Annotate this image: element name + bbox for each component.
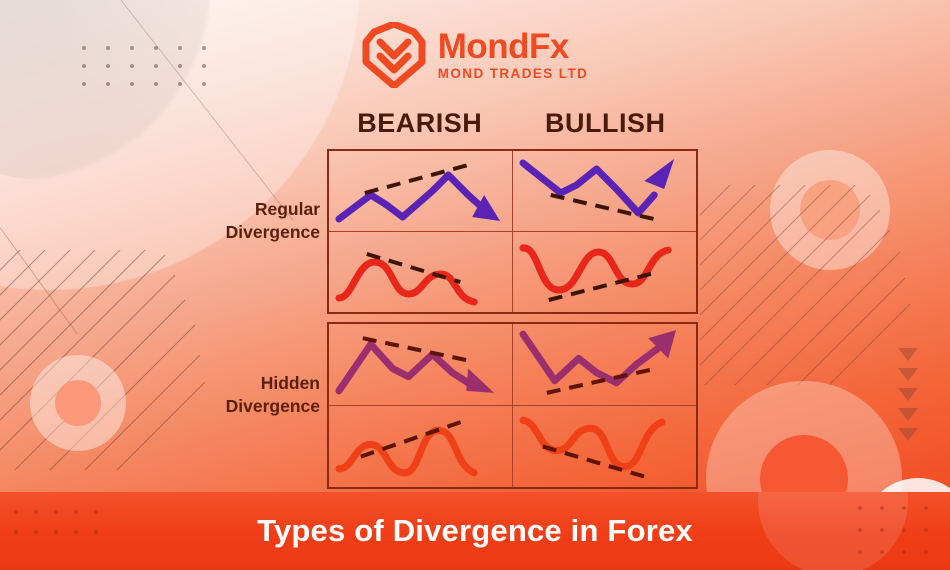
hidden-indicator-row bbox=[329, 406, 696, 487]
banner-decorative-blob bbox=[758, 492, 908, 570]
regular-indicator-row bbox=[329, 232, 696, 312]
background-ring-left-hole bbox=[55, 380, 101, 426]
footer-banner: Types of Divergence in Forex bbox=[0, 492, 950, 570]
column-header-bearish: BEARISH bbox=[327, 108, 513, 139]
triangle-column-icon bbox=[898, 348, 918, 448]
row-label-line2: Divergence bbox=[145, 221, 320, 244]
row-label-line1: Hidden bbox=[145, 372, 320, 395]
hidden-bearish-indicator-chart bbox=[329, 406, 513, 487]
row-label-hidden-divergence: Hidden Divergence bbox=[145, 372, 320, 418]
regular-divergence-block bbox=[327, 149, 698, 314]
regular-bullish-price-chart bbox=[513, 151, 696, 231]
row-label-regular-divergence: Regular Divergence bbox=[145, 198, 320, 244]
hidden-bullish-indicator-chart bbox=[513, 406, 696, 487]
page-title: Types of Divergence in Forex bbox=[257, 513, 693, 549]
regular-price-row bbox=[329, 151, 696, 232]
regular-bullish-indicator-chart bbox=[513, 232, 696, 312]
brand-logo: MondFx MOND TRADES LTD bbox=[0, 22, 950, 88]
regular-bearish-price-chart bbox=[329, 151, 513, 231]
brand-name: MondFx bbox=[438, 29, 589, 64]
row-label-line1: Regular bbox=[145, 198, 320, 221]
regular-bearish-indicator-chart bbox=[329, 232, 513, 312]
hidden-price-row bbox=[329, 324, 696, 406]
diagonal-hatch-right bbox=[700, 185, 930, 385]
hidden-divergence-block bbox=[327, 322, 698, 489]
infographic-canvas: MondFx MOND TRADES LTD BEARISH BULLISH R… bbox=[0, 0, 950, 570]
row-label-line2: Divergence bbox=[145, 395, 320, 418]
hidden-bullish-price-chart bbox=[513, 324, 696, 405]
column-header-bullish: BULLISH bbox=[513, 108, 699, 139]
hidden-bearish-price-chart bbox=[329, 324, 513, 405]
brand-tagline: MOND TRADES LTD bbox=[438, 67, 589, 81]
column-headers: BEARISH BULLISH bbox=[327, 108, 698, 139]
shield-chevron-logo-icon bbox=[362, 22, 426, 88]
